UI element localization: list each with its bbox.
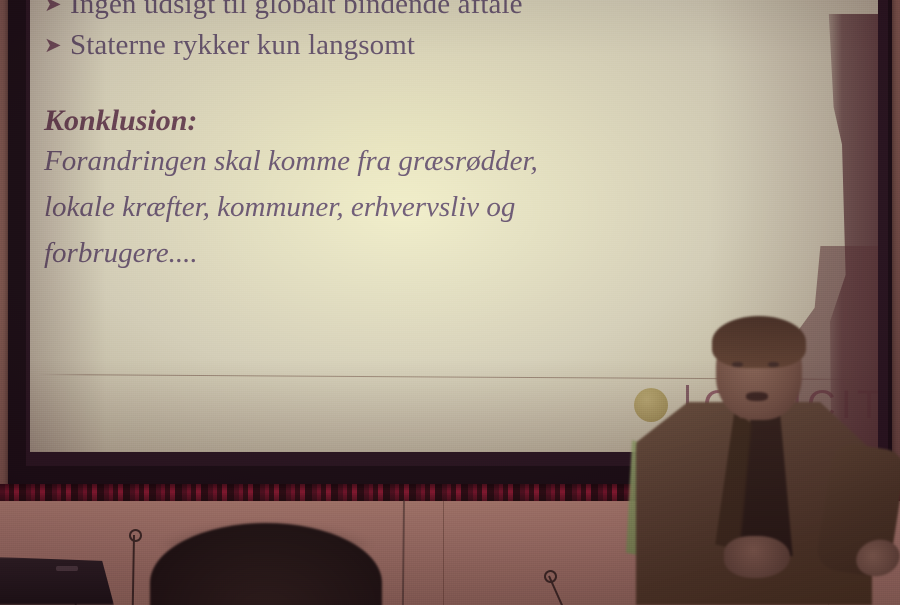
slide-conclusion-line: forbrugere.... [44,230,814,276]
slide-conclusion-line: lokale kræfter, kommuner, erhvervsliv og [44,184,814,230]
speaker [628,318,900,605]
presentation-photo: ➤ Ingen udsigt til globalt bindende afta… [0,0,900,605]
wall-seam [443,497,444,605]
microphone-head-icon [544,570,557,583]
slide-conclusion-line: Forandringen skal komme fra græsrødder, [44,138,814,184]
speaker-hands-clasped [724,536,790,578]
speaker-hair [712,316,806,368]
slide-conclusion-heading: Konklusion: [44,104,814,138]
laptop-badge [56,566,78,571]
speaker-mouth [746,392,768,401]
slide-bullet-text: Staterne rykker kun langsomt [70,25,415,66]
slide-bullet: ➤ Staterne rykker kun langsomt [44,25,814,66]
laptop-lid [0,557,114,605]
arrow-bullet-icon: ➤ [44,0,70,25]
speaker-eye [768,362,779,367]
speaker-eye [732,362,743,367]
microphone-head-icon [129,529,142,542]
slide-text-block: ➤ Ingen udsigt til globalt bindende afta… [44,0,814,276]
arrow-bullet-icon: ➤ [44,25,70,66]
slide-bullet: ➤ Ingen udsigt til globalt bindende afta… [44,0,814,25]
slide-bullet-text: Ingen udsigt til globalt bindende aftale [70,0,523,25]
